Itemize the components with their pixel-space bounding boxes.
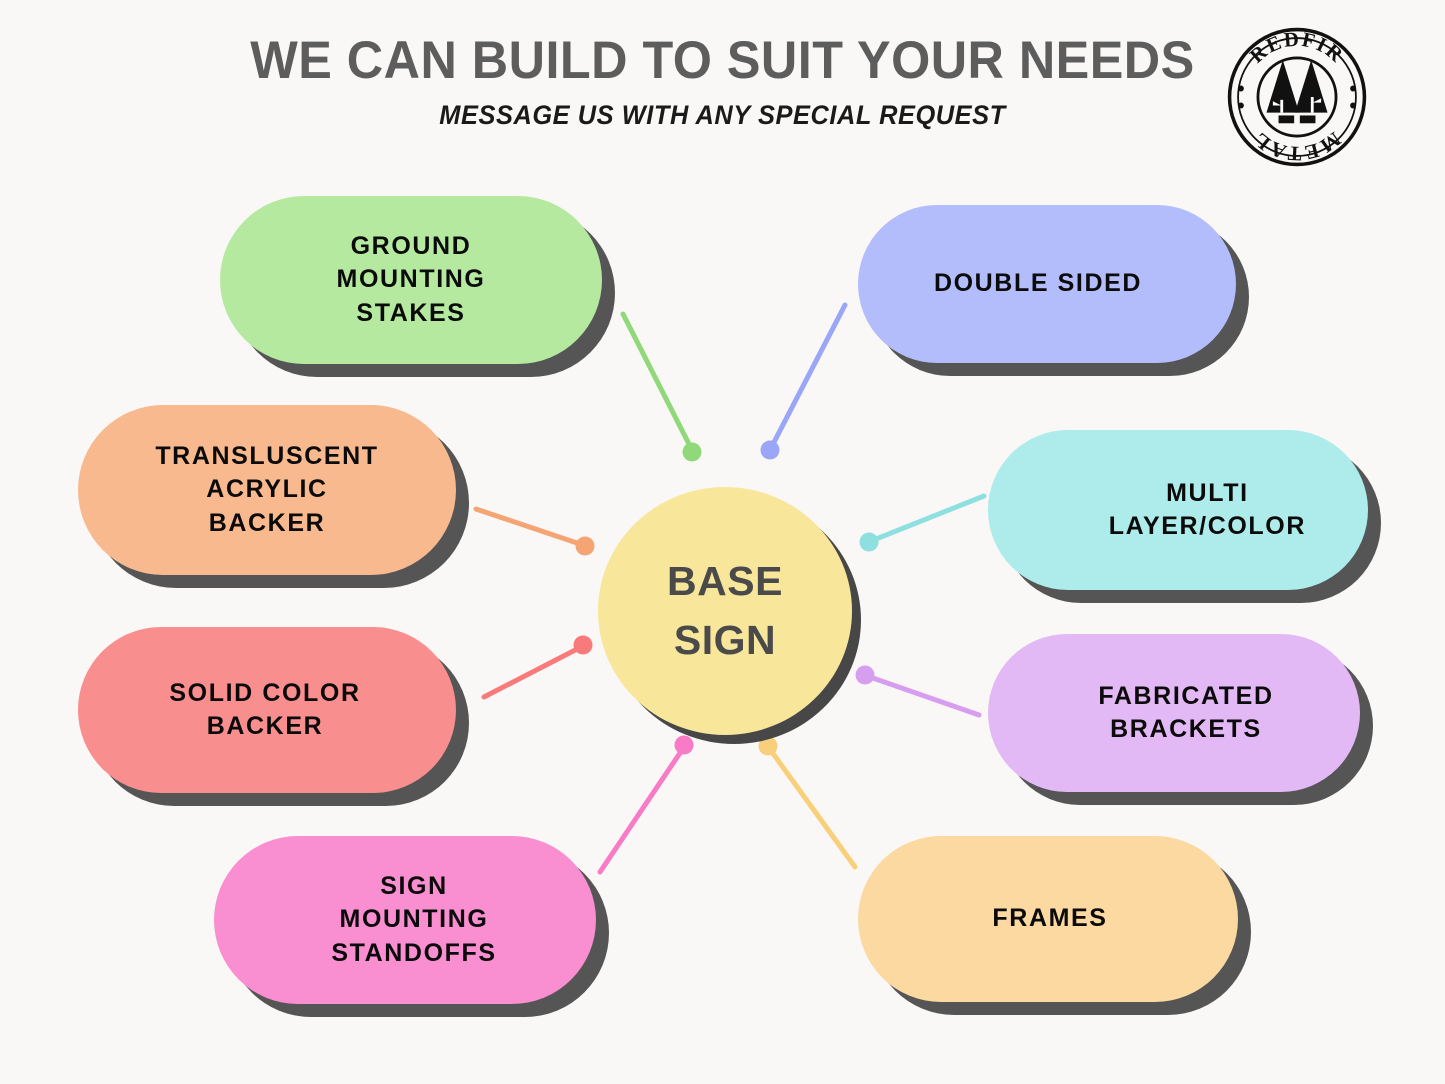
- connector-fab: [856, 666, 980, 716]
- node-label: SOLID COLOR BACKER: [143, 677, 390, 744]
- node-multi-layer-color[interactable]: MULTI LAYER/COLOR: [988, 430, 1368, 590]
- connector-double: [761, 305, 846, 460]
- connector-multi: [860, 496, 985, 552]
- node-label: GROUND MOUNTING STAKES: [311, 230, 512, 331]
- node-label: TRANSLUSCENT ACRYLIC BACKER: [129, 440, 404, 541]
- connector-ground: [623, 314, 702, 462]
- node-label: DOUBLE SIDED: [926, 267, 1168, 301]
- node-label: SIGN MOUNTING STANDOFFS: [305, 870, 504, 971]
- node-ground-mounting-stakes[interactable]: GROUND MOUNTING STAKES: [220, 196, 602, 364]
- connector-standoff: [600, 736, 694, 873]
- infographic-canvas: WE CAN BUILD TO SUIT YOUR NEEDS MESSAGE …: [0, 0, 1445, 1084]
- node-fabricated-brackets[interactable]: FABRICATED BRACKETS: [988, 634, 1360, 792]
- center-node-label: BASE SIGN: [667, 552, 783, 671]
- node-sign-mounting-standoffs[interactable]: SIGN MOUNTING STANDOFFS: [214, 836, 596, 1004]
- node-double-sided[interactable]: DOUBLE SIDED: [858, 205, 1236, 363]
- node-frames[interactable]: FRAMES: [858, 836, 1238, 1002]
- node-label: FABRICATED BRACKETS: [1074, 680, 1273, 747]
- node-solid-color-backer[interactable]: SOLID COLOR BACKER: [78, 627, 456, 793]
- node-transluscent-acrylic-backer[interactable]: TRANSLUSCENT ACRYLIC BACKER: [78, 405, 456, 575]
- connector-frames: [759, 737, 856, 868]
- node-label: FRAMES: [962, 902, 1133, 936]
- connector-solid: [484, 636, 593, 698]
- connector-trans: [476, 509, 595, 556]
- node-label: MULTI LAYER/COLOR: [1109, 477, 1368, 544]
- center-node-base-sign[interactable]: BASE SIGN: [598, 487, 852, 735]
